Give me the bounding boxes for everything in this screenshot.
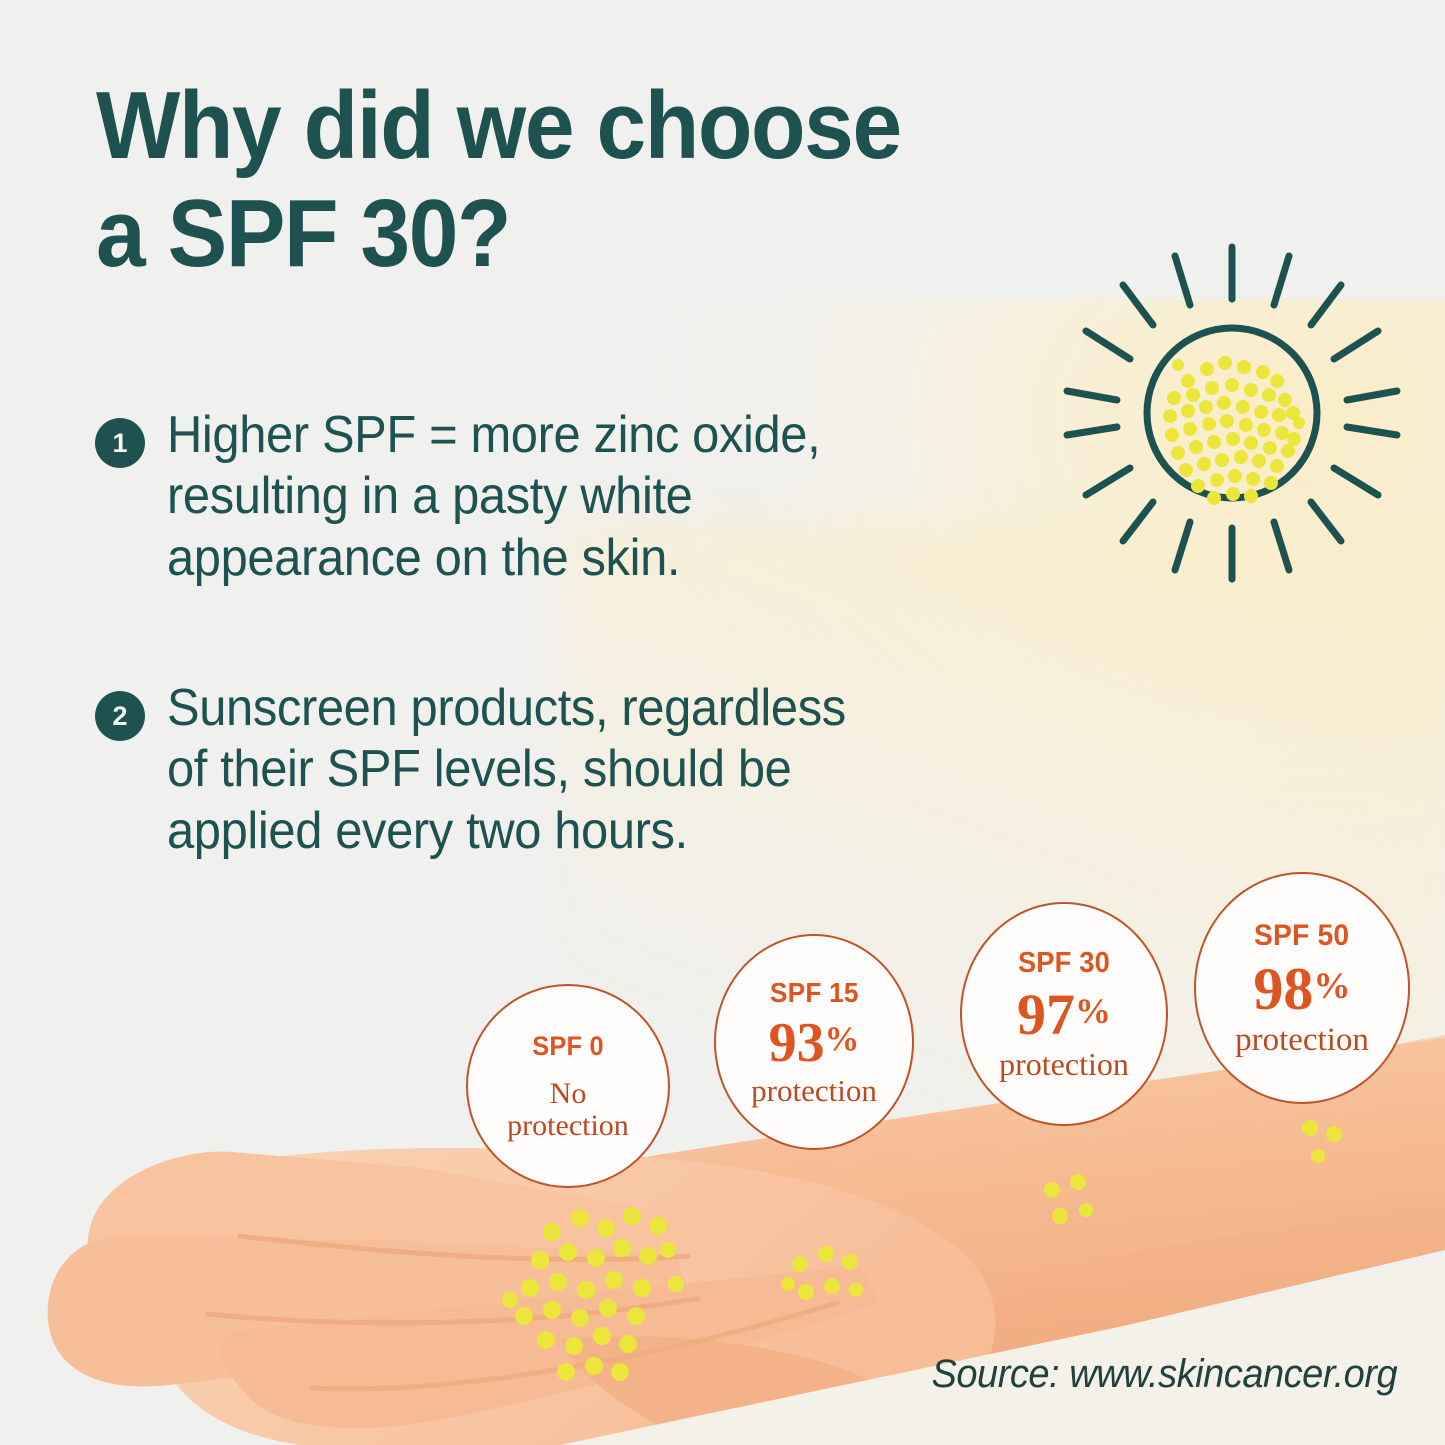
spf-percent: 97% — [1017, 986, 1111, 1044]
spf-percent: 98% — [1253, 959, 1350, 1019]
list-item-text: Sunscreen products, regardless of their … — [167, 678, 846, 862]
spf-bubble-15: SPF 15 93% protection — [714, 934, 914, 1150]
spf-bubble-50: SPF 50 98% protection — [1194, 872, 1410, 1104]
sun-rays — [1067, 247, 1397, 579]
spf-label: SPF 15 — [770, 977, 859, 1009]
list-item-text: Higher SPF = more zinc oxide, resulting … — [167, 405, 820, 589]
spf-protection-text: protection — [751, 1075, 877, 1107]
percent-symbol: % — [1313, 966, 1350, 1007]
spf-label: SPF 50 — [1254, 919, 1349, 953]
spf-bubble-30: SPF 30 97% protection — [960, 902, 1168, 1126]
list-item-number-badge: 1 — [95, 418, 145, 468]
spf-protection-text: protection — [1235, 1023, 1369, 1057]
sun-svg — [1062, 243, 1402, 583]
list-item-number-badge: 2 — [95, 691, 145, 741]
spf-label: SPF 0 — [532, 1031, 603, 1062]
spf-protection-text: No protection — [507, 1078, 629, 1140]
source-attribution: Source: www.skincancer.org — [931, 1352, 1397, 1397]
percent-symbol: % — [825, 1019, 860, 1058]
list-item: 2 Sunscreen products, regardless of thei… — [95, 678, 1145, 862]
spf-bubble-0: SPF 0 No protection — [466, 984, 670, 1188]
list-item: 1 Higher SPF = more zinc oxide, resultin… — [95, 405, 1095, 589]
page-title: Why did we choose a SPF 30? — [96, 72, 1193, 289]
spf-protection-text: protection — [999, 1048, 1129, 1081]
sun-icon — [1062, 243, 1402, 583]
spf-percent: 93% — [769, 1015, 860, 1071]
spf-label: SPF 30 — [1018, 947, 1110, 980]
percent-symbol: % — [1075, 991, 1111, 1031]
infographic-canvas: Why did we choose a SPF 30? 1 Higher SPF… — [0, 0, 1445, 1445]
